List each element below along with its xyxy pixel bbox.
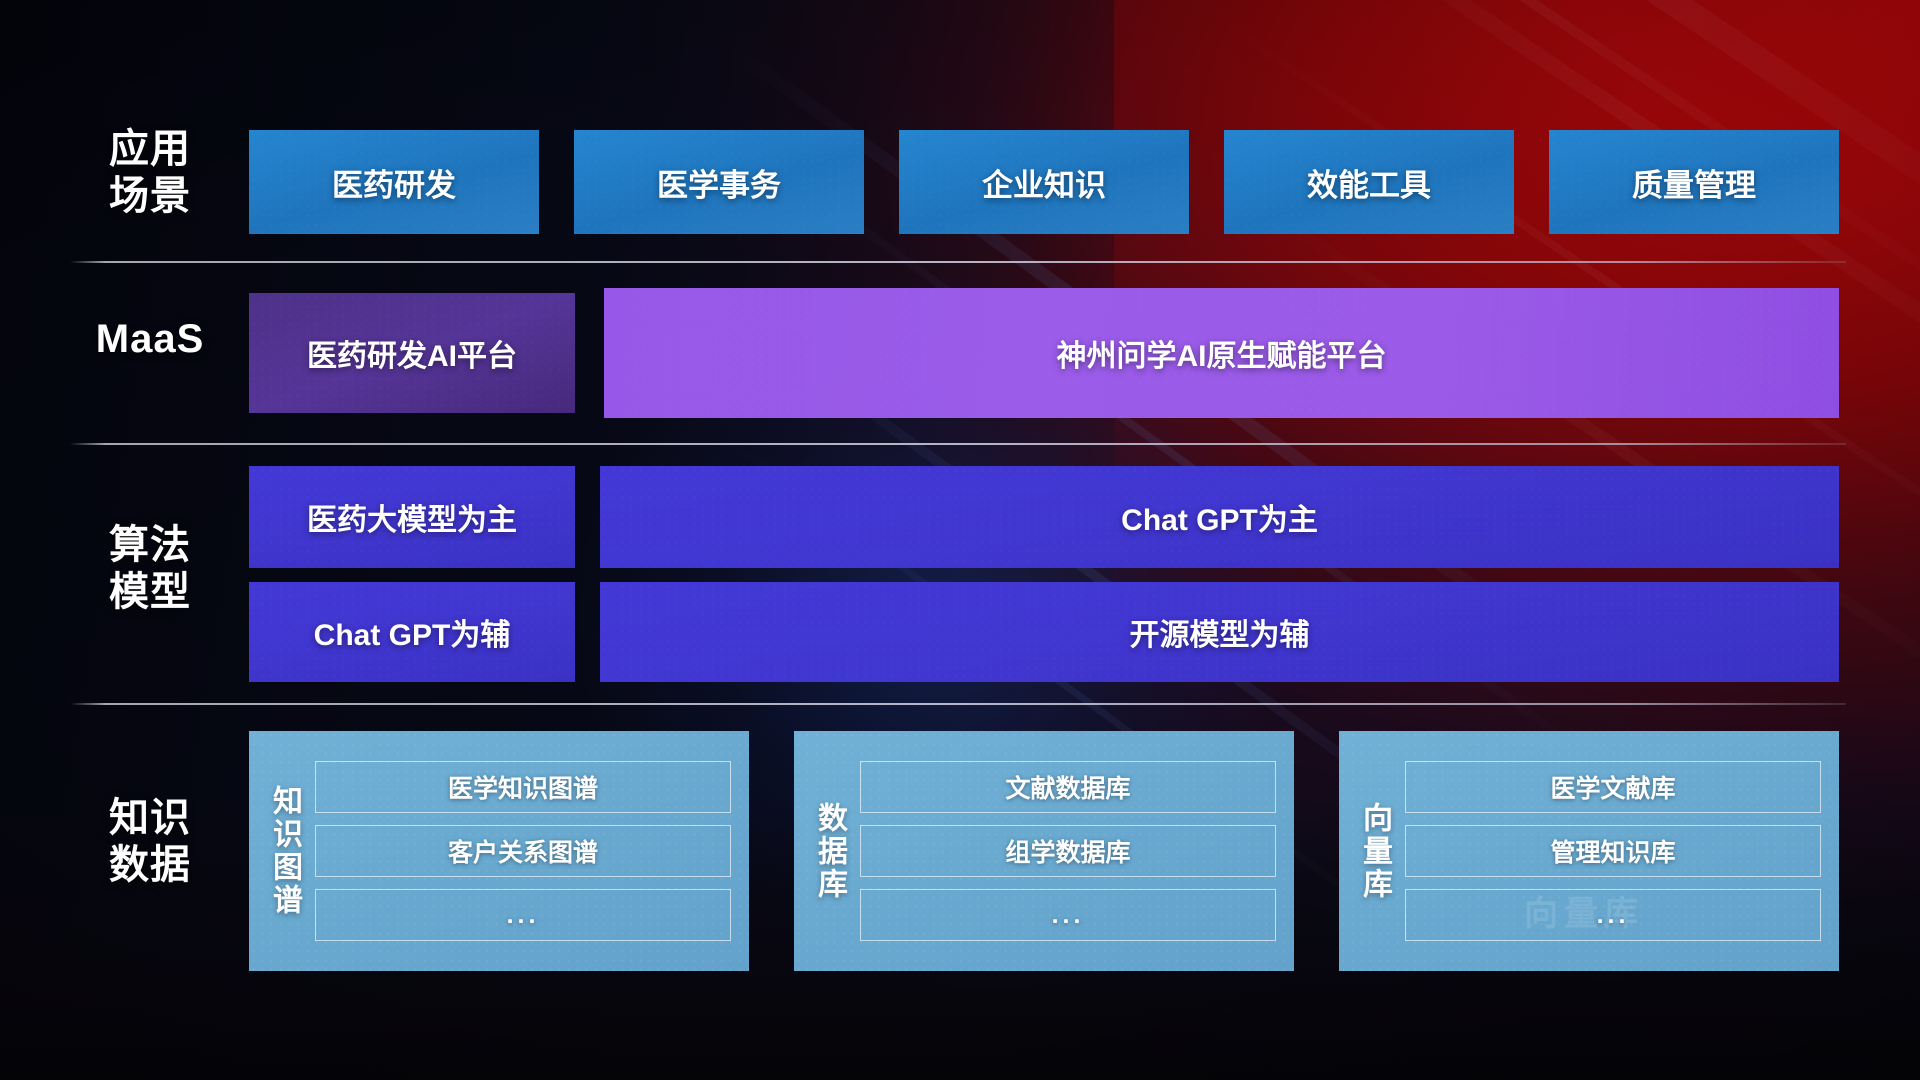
knowledge-item[interactable]: ... — [315, 889, 731, 941]
knowledge-item-label: ... — [1052, 901, 1085, 930]
app-scenario-box[interactable]: 企业知识 — [899, 130, 1189, 234]
knowledge-item[interactable]: 文献数据库 — [860, 761, 1276, 813]
knowledge-item[interactable]: ... — [1405, 889, 1821, 941]
algorithm-model-label: 开源模型为辅 — [1130, 610, 1310, 654]
row-label-maas: MaaS — [62, 316, 238, 363]
knowledge-item-label: 组学数据库 — [1005, 833, 1130, 869]
algorithm-model-label: Chat GPT为辅 — [314, 610, 511, 654]
maas-platform-box[interactable]: 神州问学AI原生赋能平台 — [604, 288, 1839, 418]
algorithm-model-box[interactable]: Chat GPT为辅 — [249, 582, 575, 682]
knowledge-group-label: 数据库 — [814, 802, 844, 901]
knowledge-item[interactable]: 管理知识库 — [1405, 825, 1821, 877]
knowledge-item-label: 客户关系图谱 — [448, 833, 598, 869]
app-scenario-box[interactable]: 效能工具 — [1224, 130, 1514, 234]
algorithm-model-box[interactable]: 开源模型为辅 — [600, 582, 1839, 682]
knowledge-group-panel[interactable]: 数据库 文献数据库 组学数据库 ... — [794, 731, 1294, 971]
maas-platform-label: 医药研发AI平台 — [307, 331, 517, 375]
app-scenario-box[interactable]: 质量管理 — [1549, 130, 1839, 234]
row-label-knowledge-data: 知识 数据 — [70, 795, 230, 889]
knowledge-item-label: ... — [507, 901, 540, 930]
maas-platform-box[interactable]: 医药研发AI平台 — [249, 293, 575, 413]
algorithm-model-box[interactable]: 医药大模型为主 — [249, 466, 575, 568]
knowledge-group-panel[interactable]: 向量库 向量库 医学文献库 管理知识库 ... — [1339, 731, 1839, 971]
row-label-application-scenarios: 应用 场景 — [70, 126, 230, 220]
row-label-algorithm-models: 算法 模型 — [70, 522, 230, 616]
app-scenario-label: 医药研发 — [332, 160, 456, 205]
knowledge-item[interactable]: 医学文献库 — [1405, 761, 1821, 813]
knowledge-item-label: 管理知识库 — [1550, 833, 1675, 869]
knowledge-group-panel[interactable]: 知识图谱 医学知识图谱 客户关系图谱 ... — [249, 731, 749, 971]
algorithm-model-box[interactable]: Chat GPT为主 — [600, 466, 1839, 568]
row-divider — [70, 703, 1846, 705]
knowledge-item[interactable]: 医学知识图谱 — [315, 761, 731, 813]
app-scenario-label: 质量管理 — [1632, 160, 1756, 205]
knowledge-item-label: 文献数据库 — [1005, 769, 1130, 805]
knowledge-group-label: 向量库 — [1359, 802, 1389, 901]
algorithm-model-label: 医药大模型为主 — [307, 495, 517, 539]
knowledge-item-label: 医学文献库 — [1550, 769, 1675, 805]
knowledge-item[interactable]: 组学数据库 — [860, 825, 1276, 877]
app-scenario-label: 效能工具 — [1307, 160, 1431, 205]
knowledge-item-label: 医学知识图谱 — [448, 769, 598, 805]
knowledge-group-items: 文献数据库 组学数据库 ... — [860, 761, 1276, 941]
knowledge-item-label: ... — [1597, 901, 1630, 930]
algorithm-model-label: Chat GPT为主 — [1121, 495, 1318, 539]
app-scenario-label: 企业知识 — [982, 160, 1106, 205]
maas-platform-label: 神州问学AI原生赋能平台 — [1057, 331, 1387, 375]
knowledge-group-items: 医学文献库 管理知识库 ... — [1405, 761, 1821, 941]
knowledge-group-items: 医学知识图谱 客户关系图谱 ... — [315, 761, 731, 941]
row-divider — [70, 443, 1846, 445]
app-scenario-label: 医学事务 — [657, 160, 781, 205]
row-divider — [70, 261, 1846, 263]
knowledge-item[interactable]: 客户关系图谱 — [315, 825, 731, 877]
app-scenario-box[interactable]: 医学事务 — [574, 130, 864, 234]
knowledge-item[interactable]: ... — [860, 889, 1276, 941]
app-scenario-box[interactable]: 医药研发 — [249, 130, 539, 234]
knowledge-group-label: 知识图谱 — [269, 785, 299, 917]
